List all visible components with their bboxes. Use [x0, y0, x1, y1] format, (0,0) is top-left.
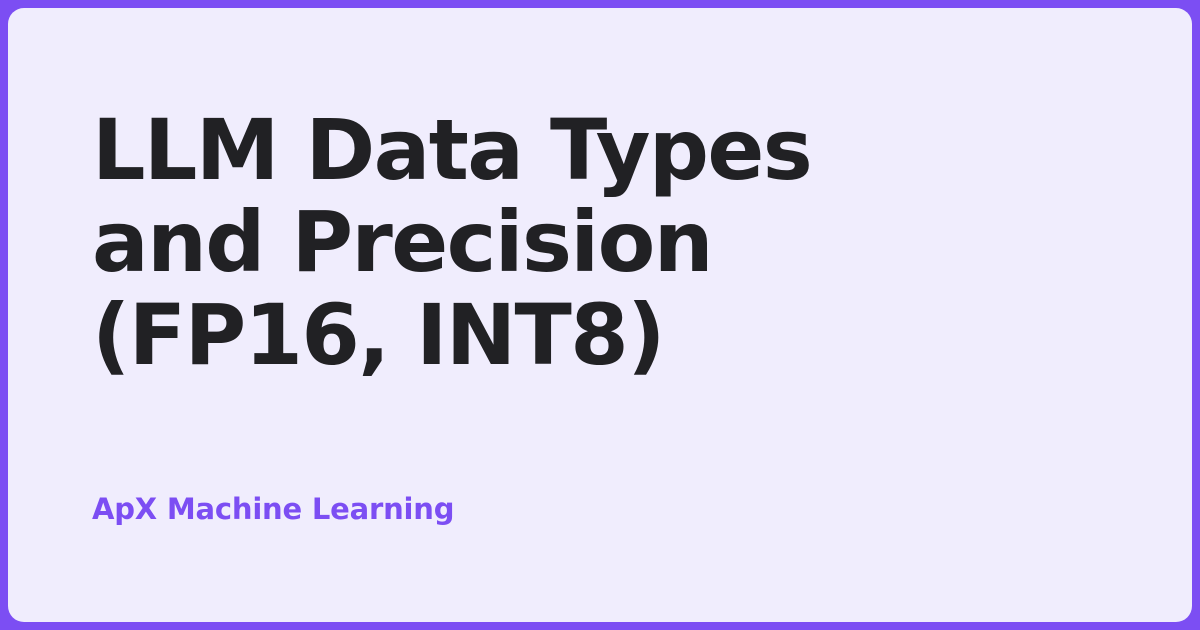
brand-block: ApX Machine Learning	[92, 492, 454, 527]
page-title: LLM Data Types and Precision (FP16, INT8…	[92, 104, 992, 381]
brand-name: ApX Machine Learning	[92, 492, 454, 527]
title-block: LLM Data Types and Precision (FP16, INT8…	[92, 104, 1108, 381]
card-content: LLM Data Types and Precision (FP16, INT8…	[92, 8, 1108, 622]
card-surface: LLM Data Types and Precision (FP16, INT8…	[8, 8, 1192, 622]
share-preview-card: LLM Data Types and Precision (FP16, INT8…	[0, 0, 1200, 630]
